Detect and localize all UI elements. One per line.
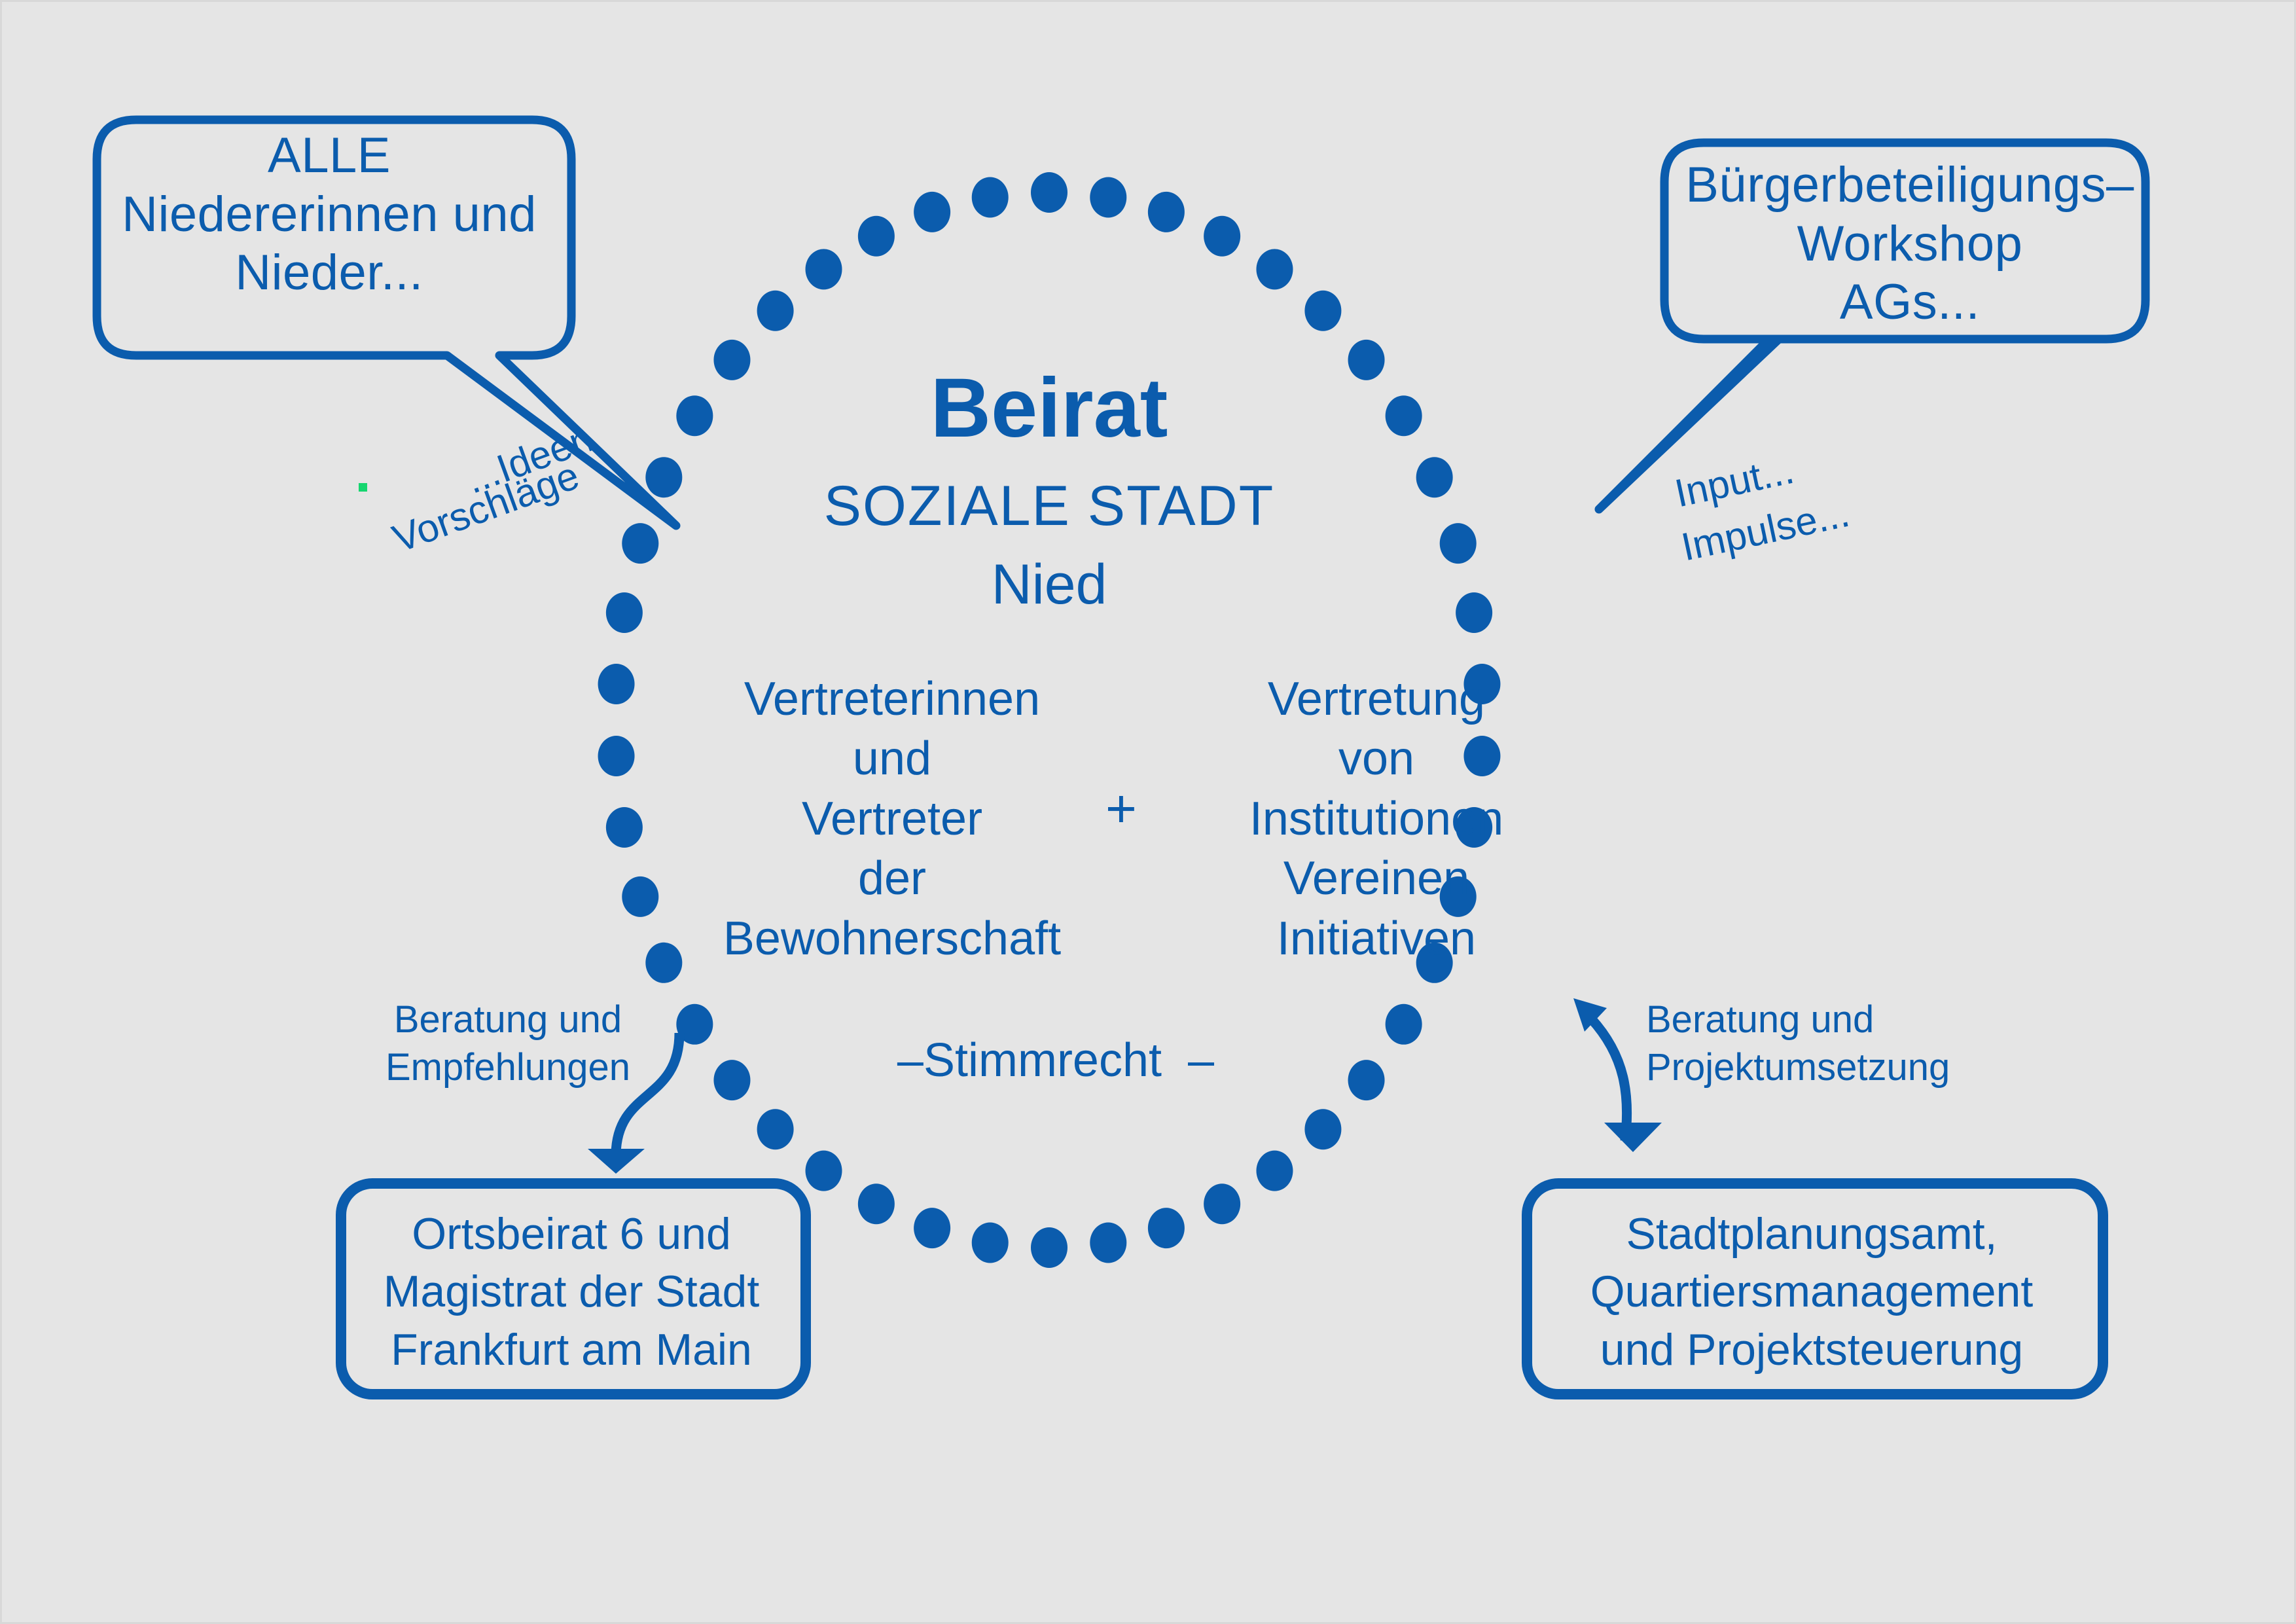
ring-dot [1440, 523, 1477, 564]
ring-dot [1304, 291, 1341, 331]
member-group-institutions: Vertretung von Institutionen Vereinen In… [1174, 670, 1579, 969]
ring-dot [1386, 395, 1422, 436]
flow-label-right: Beratung und Projektumsetzung [1646, 996, 1954, 1091]
ring-dot [858, 216, 895, 257]
ring-dot [1304, 1109, 1341, 1149]
ring-dot [676, 395, 713, 436]
ring-dot [972, 177, 1009, 218]
ring-dot [858, 1183, 895, 1224]
center-title: Beirat [774, 359, 1324, 458]
ring-dot [914, 192, 950, 232]
ring-dot [606, 807, 643, 848]
ring-dot [645, 457, 682, 497]
ring-dot [1386, 1004, 1422, 1045]
box-bottom-left-text: Ortsbeirat 6 und Magistrat der Stadt Fra… [342, 1205, 800, 1379]
ring-dot [1256, 1151, 1293, 1191]
ring-dot [914, 1208, 950, 1248]
speech-bubble-top-left-text: ALLE Niedererinnen und Nieder... [100, 126, 558, 302]
ring-dot [1031, 1227, 1067, 1268]
ring-dot [713, 1060, 750, 1100]
voting-rights-note: –Stimmrecht – [840, 1033, 1272, 1089]
ring-dot [598, 736, 635, 776]
plus-symbol: + [1082, 778, 1160, 841]
ring-dot [622, 523, 658, 564]
ring-dot [1416, 457, 1453, 497]
ring-dot [757, 291, 794, 331]
ring-dot [806, 249, 842, 289]
ring-dot [606, 592, 643, 633]
ring-dot [1456, 592, 1492, 633]
ring-dot [598, 664, 635, 704]
ring-dot [645, 943, 682, 983]
ring-dot [1090, 177, 1126, 218]
ring-dot [1031, 172, 1067, 213]
box-bottom-right-text: Stadtplanungsamt, Quartiersmanagement un… [1534, 1205, 2090, 1379]
ring-dot [713, 340, 750, 380]
ring-dot [1204, 1183, 1240, 1224]
ring-dot [806, 1151, 842, 1191]
ring-dot [972, 1222, 1009, 1263]
ring-dot [1148, 192, 1185, 232]
ring-dot [1256, 249, 1293, 289]
ring-dot [757, 1109, 794, 1149]
member-group-residents: Vertreterinnen und Vertreter der Bewohne… [689, 670, 1095, 969]
speech-bubble-top-right-text: Bürgerbeteiligungs– Workshop AGs... [1681, 156, 2139, 332]
center-subtitle-line-2: Nied [774, 552, 1324, 618]
flow-label-left: Beratung und Empfehlungen [380, 996, 636, 1091]
ring-dot [1348, 340, 1385, 380]
center-subtitle-line-1: SOZIALE STADT [774, 473, 1324, 539]
ring-dot [1348, 1060, 1385, 1100]
ring-dot [1090, 1222, 1126, 1263]
ring-dot [1204, 216, 1240, 257]
green-marker-dot [359, 483, 367, 492]
ring-dot [622, 876, 658, 917]
diagram-canvas: ALLE Niedererinnen und Nieder... Bürgerb… [0, 0, 2296, 1624]
ring-dot [1148, 1208, 1185, 1248]
